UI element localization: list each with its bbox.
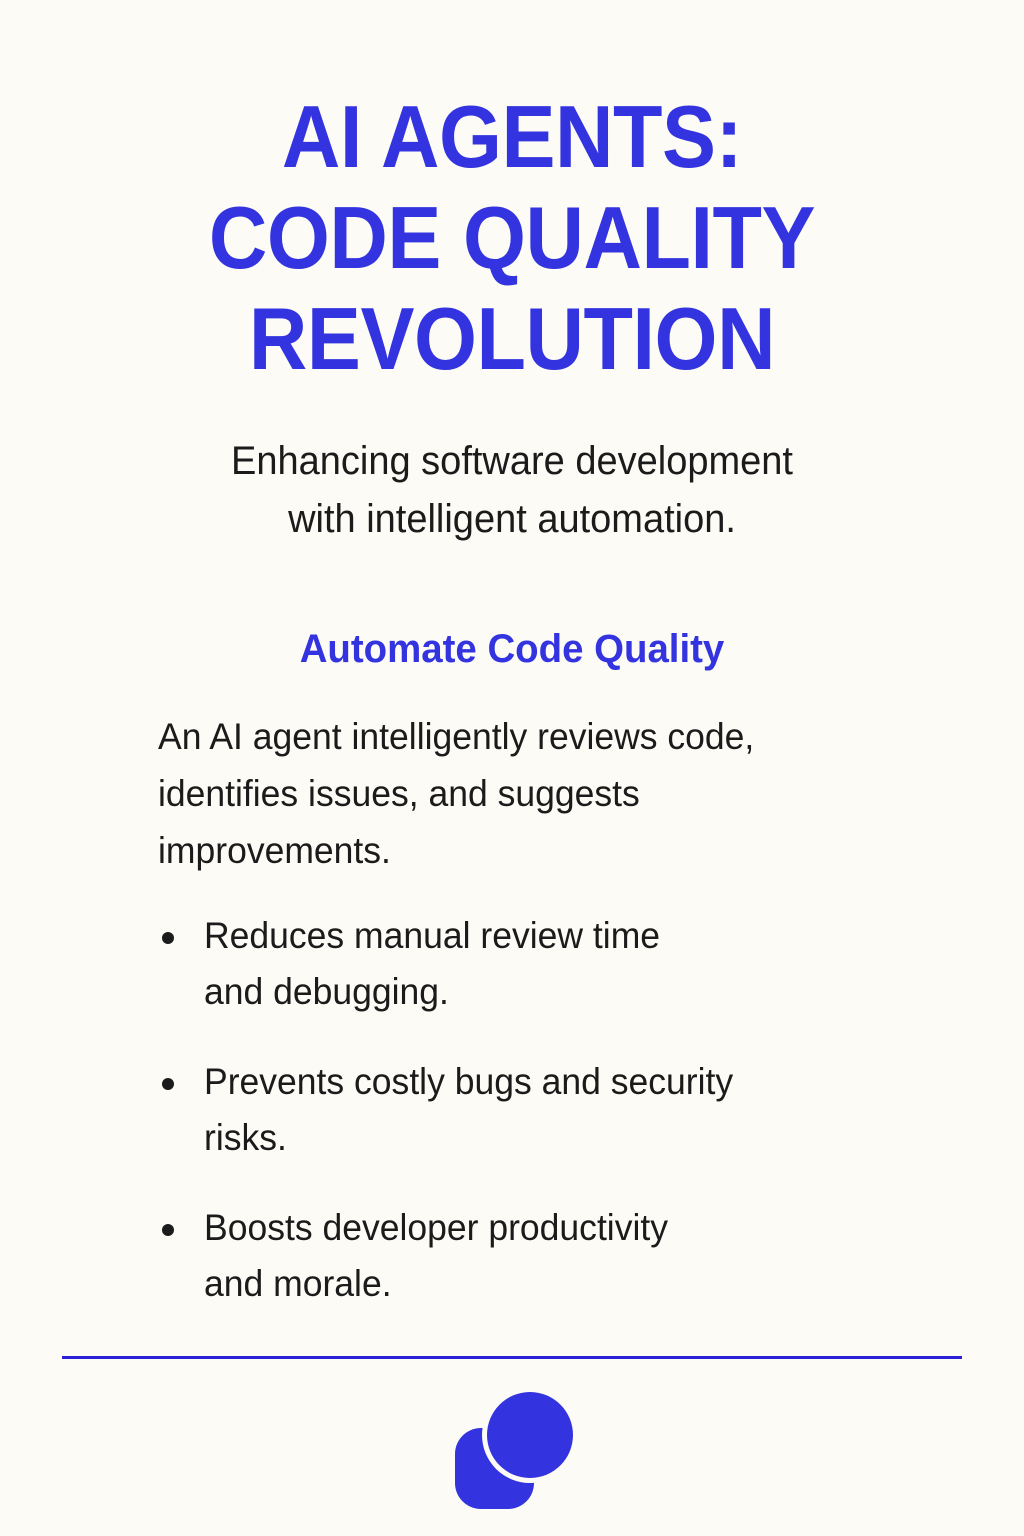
benefits-bullet-list: Reduces manual review time and debugging…: [158, 908, 958, 1312]
body-line-3: improvements.: [158, 822, 916, 879]
bullet-dot-icon: [162, 1224, 174, 1236]
list-item-text: Reduces manual review time and debugging…: [204, 908, 928, 1020]
subtitle-line-1: Enhancing software development: [132, 432, 892, 490]
page-title: AI AGENTS: CODE QUALITY REVOLUTION: [0, 86, 1024, 389]
list-item-line-1: Prevents costly bugs and security: [204, 1054, 928, 1110]
list-item-line-2: and morale.: [204, 1256, 928, 1312]
poster-root: AI AGENTS: CODE QUALITY REVOLUTION Enhan…: [0, 0, 1024, 1536]
list-item: Boosts developer productivity and morale…: [158, 1200, 958, 1312]
page-subtitle: Enhancing software development with inte…: [132, 432, 892, 548]
footer-divider: [62, 1356, 962, 1359]
list-item-line-2: risks.: [204, 1110, 928, 1166]
section-body-text: An AI agent intelligently reviews code, …: [158, 708, 916, 879]
bullet-dot-icon: [162, 1078, 174, 1090]
list-item: Prevents costly bugs and security risks.: [158, 1054, 958, 1166]
list-item-text: Boosts developer productivity and morale…: [204, 1200, 928, 1312]
body-line-1: An AI agent intelligently reviews code,: [158, 708, 916, 765]
brand-logo: [446, 1388, 578, 1514]
bullet-dot-icon: [162, 932, 174, 944]
list-item-text: Prevents costly bugs and security risks.: [204, 1054, 928, 1166]
title-line-1: AI AGENTS:: [41, 86, 983, 187]
list-item-line-1: Reduces manual review time: [204, 908, 928, 964]
two-circles-logo-icon: [450, 1388, 578, 1514]
title-line-2: CODE QUALITY: [41, 187, 983, 288]
section-heading: Automate Code Quality: [20, 621, 1003, 677]
list-item: Reduces manual review time and debugging…: [158, 908, 958, 1020]
list-item-line-1: Boosts developer productivity: [204, 1200, 928, 1256]
body-line-2: identifies issues, and suggests: [158, 765, 916, 822]
subtitle-line-2: with intelligent automation.: [132, 490, 892, 548]
list-item-line-2: and debugging.: [204, 964, 928, 1020]
title-line-3: REVOLUTION: [41, 288, 983, 389]
